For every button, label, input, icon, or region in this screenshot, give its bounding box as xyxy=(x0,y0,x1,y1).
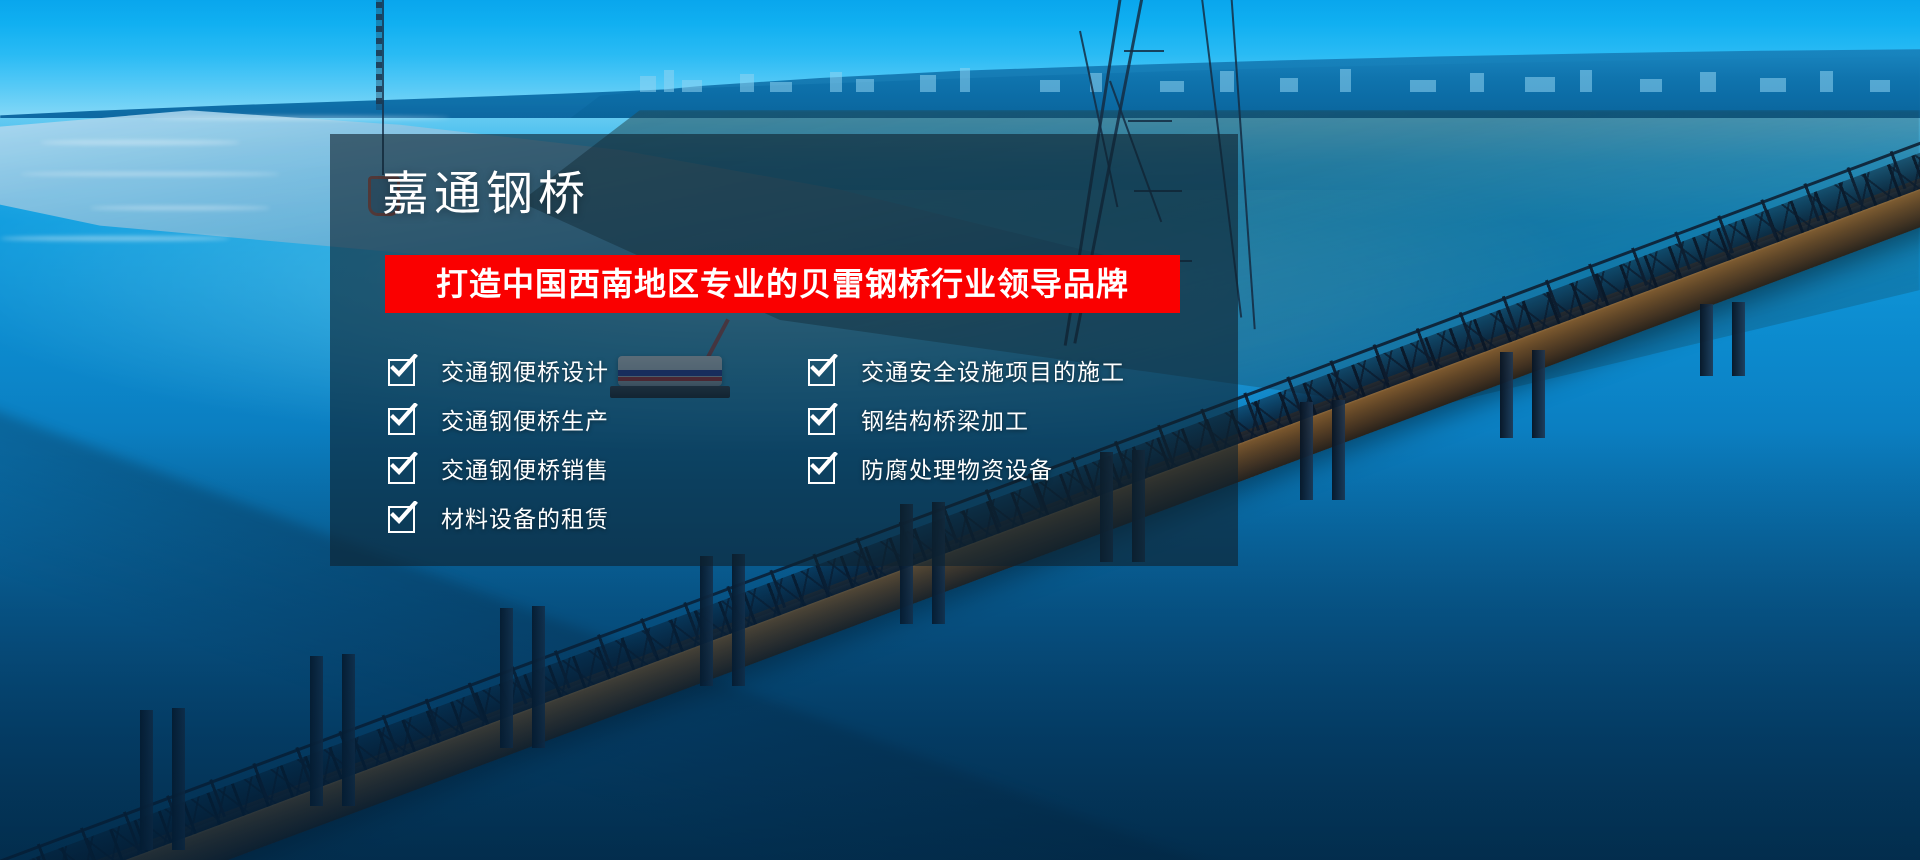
list-item[interactable]: 交通安全设施项目的施工 xyxy=(808,349,1218,396)
checkbox-checked-icon xyxy=(808,457,835,484)
slogan-banner: 打造中国西南地区专业的贝雷钢桥行业领导品牌 xyxy=(385,255,1180,313)
slogan-text: 打造中国西南地区专业的贝雷钢桥行业领导品牌 xyxy=(436,268,1129,300)
list-item[interactable]: 防腐处理物资设备 xyxy=(808,447,1218,494)
list-item-label: 交通钢便桥销售 xyxy=(441,459,609,482)
list-item[interactable]: 交通钢便桥设计 xyxy=(388,349,798,396)
checkbox-checked-icon xyxy=(388,359,415,386)
list-item-label: 钢结构桥梁加工 xyxy=(861,410,1029,433)
hero-banner: 嘉通钢桥 打造中国西南地区专业的贝雷钢桥行业领导品牌 交通钢便桥设计 交通钢便桥… xyxy=(0,0,1920,860)
feature-column-left: 交通钢便桥设计 交通钢便桥生产 交通钢便桥销售 xyxy=(388,349,798,545)
hero-content-panel: 嘉通钢桥 打造中国西南地区专业的贝雷钢桥行业领导品牌 交通钢便桥设计 交通钢便桥… xyxy=(330,134,1238,566)
feature-list: 交通钢便桥设计 交通钢便桥生产 交通钢便桥销售 xyxy=(388,349,1218,545)
list-item-label: 交通安全设施项目的施工 xyxy=(861,361,1125,384)
feature-column-right: 交通安全设施项目的施工 钢结构桥梁加工 防腐处理物资设备 xyxy=(798,349,1218,545)
checkbox-checked-icon xyxy=(388,457,415,484)
list-item-label: 材料设备的租赁 xyxy=(441,508,609,531)
list-item[interactable]: 交通钢便桥销售 xyxy=(388,447,798,494)
list-item[interactable]: 钢结构桥梁加工 xyxy=(808,398,1218,445)
list-item-label: 交通钢便桥设计 xyxy=(441,361,609,384)
checkbox-checked-icon xyxy=(808,408,835,435)
list-item[interactable]: 材料设备的租赁 xyxy=(388,496,798,543)
page-title: 嘉通钢桥 xyxy=(382,170,590,217)
checkbox-checked-icon xyxy=(808,359,835,386)
checkbox-checked-icon xyxy=(388,506,415,533)
list-item-label: 交通钢便桥生产 xyxy=(441,410,609,433)
list-item-label: 防腐处理物资设备 xyxy=(861,459,1053,482)
checkbox-checked-icon xyxy=(388,408,415,435)
list-item[interactable]: 交通钢便桥生产 xyxy=(388,398,798,445)
